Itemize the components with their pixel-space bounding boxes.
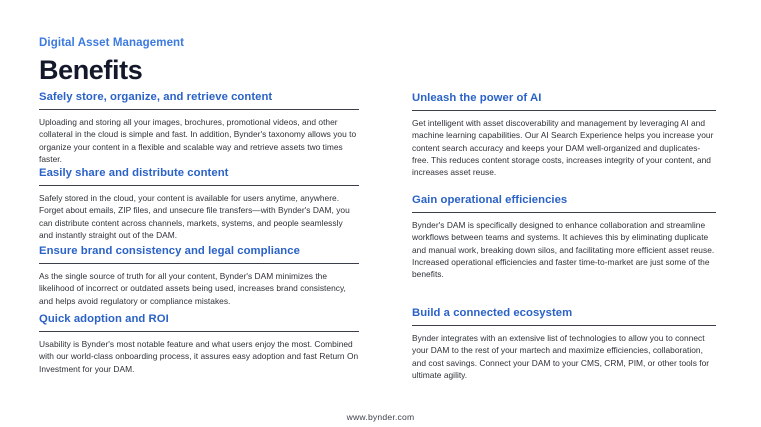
section-body: Usability is Bynder's most notable featu… [39,338,359,375]
section-body: Bynder integrates with an extensive list… [412,332,716,381]
section-divider [412,325,716,326]
benefit-section: Gain operational efficiencies Bynder's D… [412,193,716,280]
section-divider [412,110,716,111]
section-body: Safely stored in the cloud, your content… [39,192,359,241]
section-heading: Gain operational efficiencies [412,193,716,208]
section-divider [39,185,359,186]
section-body: Bynder's DAM is specifically designed to… [412,219,716,280]
benefit-section: Build a connected ecosystem Bynder integ… [412,306,716,381]
slide-page: Digital Asset Management Benefits Safely… [0,0,761,427]
page-title: Benefits [39,54,459,86]
section-heading: Quick adoption and ROI [39,312,359,327]
eyebrow-label: Digital Asset Management [39,36,459,51]
section-heading: Easily share and distribute content [39,166,359,181]
section-heading: Unleash the power of AI [412,91,716,106]
section-heading: Safely store, organize, and retrieve con… [39,90,359,105]
section-body: Get intelligent with asset discoverabili… [412,117,716,178]
section-heading: Ensure brand consistency and legal compl… [39,244,359,259]
section-divider [39,263,359,264]
footer-website-url[interactable]: www.bynder.com [347,412,415,422]
section-divider [39,331,359,332]
page-header: Digital Asset Management Benefits [39,36,459,86]
section-body: As the single source of truth for all yo… [39,270,359,307]
benefit-section: Quick adoption and ROI Usability is Bynd… [39,312,359,375]
benefit-section: Safely store, organize, and retrieve con… [39,90,359,165]
benefit-section: Easily share and distribute content Safe… [39,166,359,241]
section-body: Uploading and storing all your images, b… [39,116,359,165]
section-heading: Build a connected ecosystem [412,306,716,321]
benefit-section: Unleash the power of AI Get intelligent … [412,91,716,178]
section-divider [412,212,716,213]
page-footer: www.bynder.com [0,407,761,425]
benefit-section: Ensure brand consistency and legal compl… [39,244,359,307]
section-divider [39,109,359,110]
